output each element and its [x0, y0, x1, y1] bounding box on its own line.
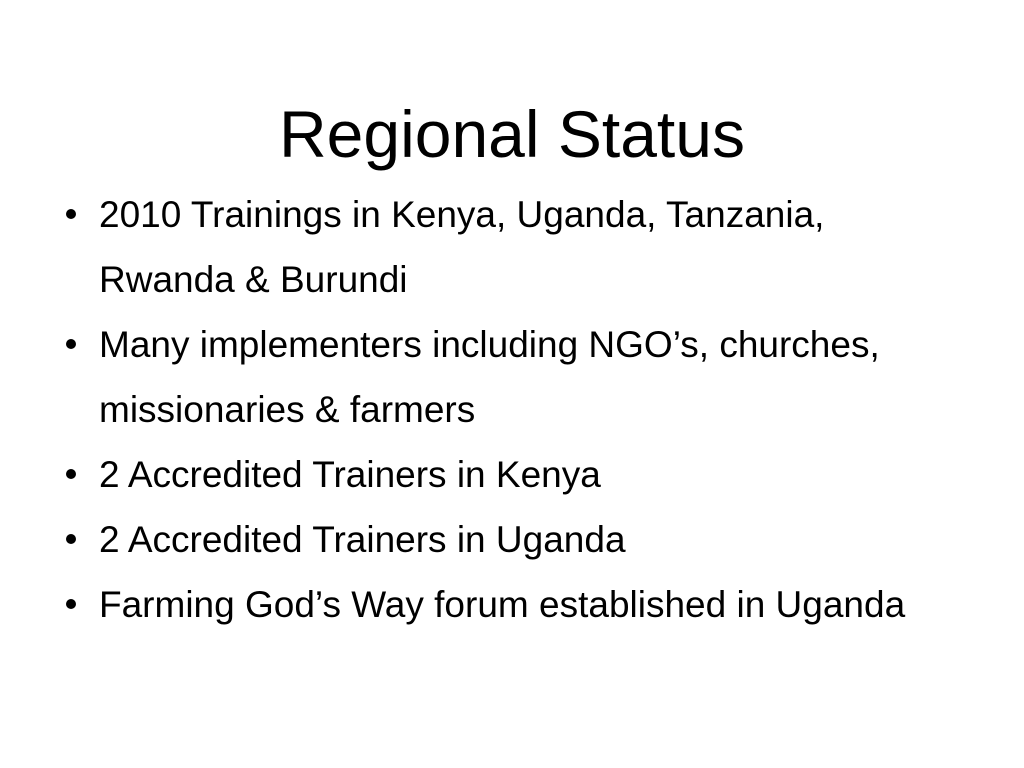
list-item-label: Many implementers including NGO’s, churc… [99, 312, 960, 442]
list-item-label: 2 Accredited Trainers in Kenya [99, 442, 960, 507]
presentation-slide: Regional Status 2010 Trainings in Kenya,… [0, 0, 1024, 768]
list-item-label: Farming God’s Way forum established in U… [99, 572, 960, 637]
bullet-dot-icon [66, 534, 76, 544]
list-item-label: 2 Accredited Trainers in Uganda [99, 507, 960, 572]
bullet-list: 2010 Trainings in Kenya, Uganda, Tanzani… [60, 182, 960, 637]
bullet-dot-icon [66, 339, 76, 349]
slide-body: 2010 Trainings in Kenya, Uganda, Tanzani… [60, 182, 960, 637]
bullet-dot-icon [66, 209, 76, 219]
page-title: Regional Status [0, 96, 1024, 172]
list-item-label: 2010 Trainings in Kenya, Uganda, Tanzani… [99, 182, 960, 312]
list-item: 2 Accredited Trainers in Kenya [60, 442, 960, 507]
bullet-dot-icon [66, 599, 76, 609]
list-item: 2010 Trainings in Kenya, Uganda, Tanzani… [60, 182, 960, 312]
list-item: 2 Accredited Trainers in Uganda [60, 507, 960, 572]
bullet-dot-icon [66, 469, 76, 479]
list-item: Many implementers including NGO’s, churc… [60, 312, 960, 442]
list-item: Farming God’s Way forum established in U… [60, 572, 960, 637]
